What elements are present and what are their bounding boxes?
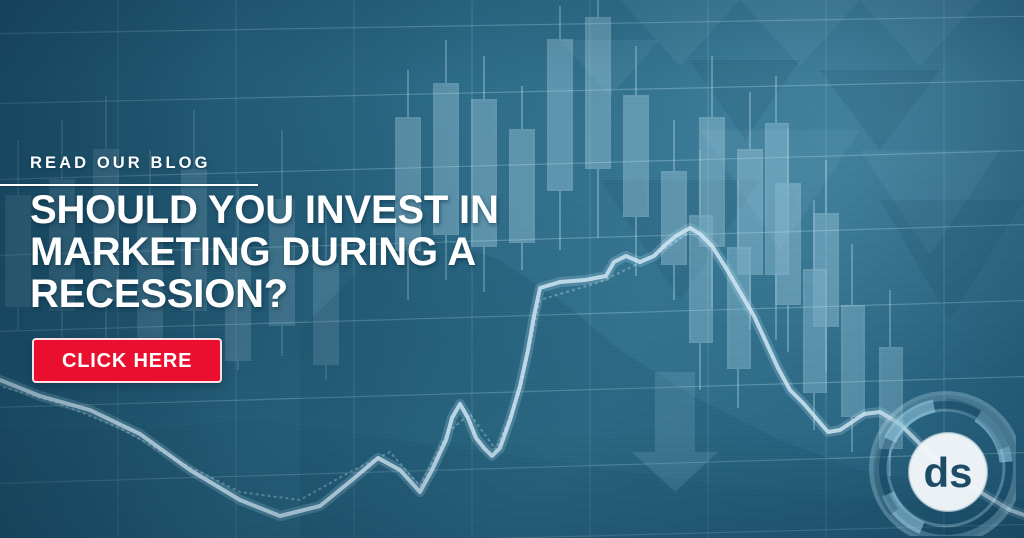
blog-promo-banner: READ OUR BLOG SHOULD YOU INVEST IN MARKE… <box>0 0 1024 538</box>
click-here-button[interactable]: CLICK HERE <box>32 338 222 383</box>
page-title: SHOULD YOU INVEST IN MARKETING DURING A … <box>30 172 500 316</box>
logo-wordmark: ds <box>923 449 972 496</box>
content-block: READ OUR BLOG SHOULD YOU INVEST IN MARKE… <box>0 0 560 383</box>
eyebrow-label: READ OUR BLOG <box>30 0 560 172</box>
eyebrow-divider <box>0 184 258 186</box>
ds-logo[interactable]: ds <box>860 386 1016 536</box>
